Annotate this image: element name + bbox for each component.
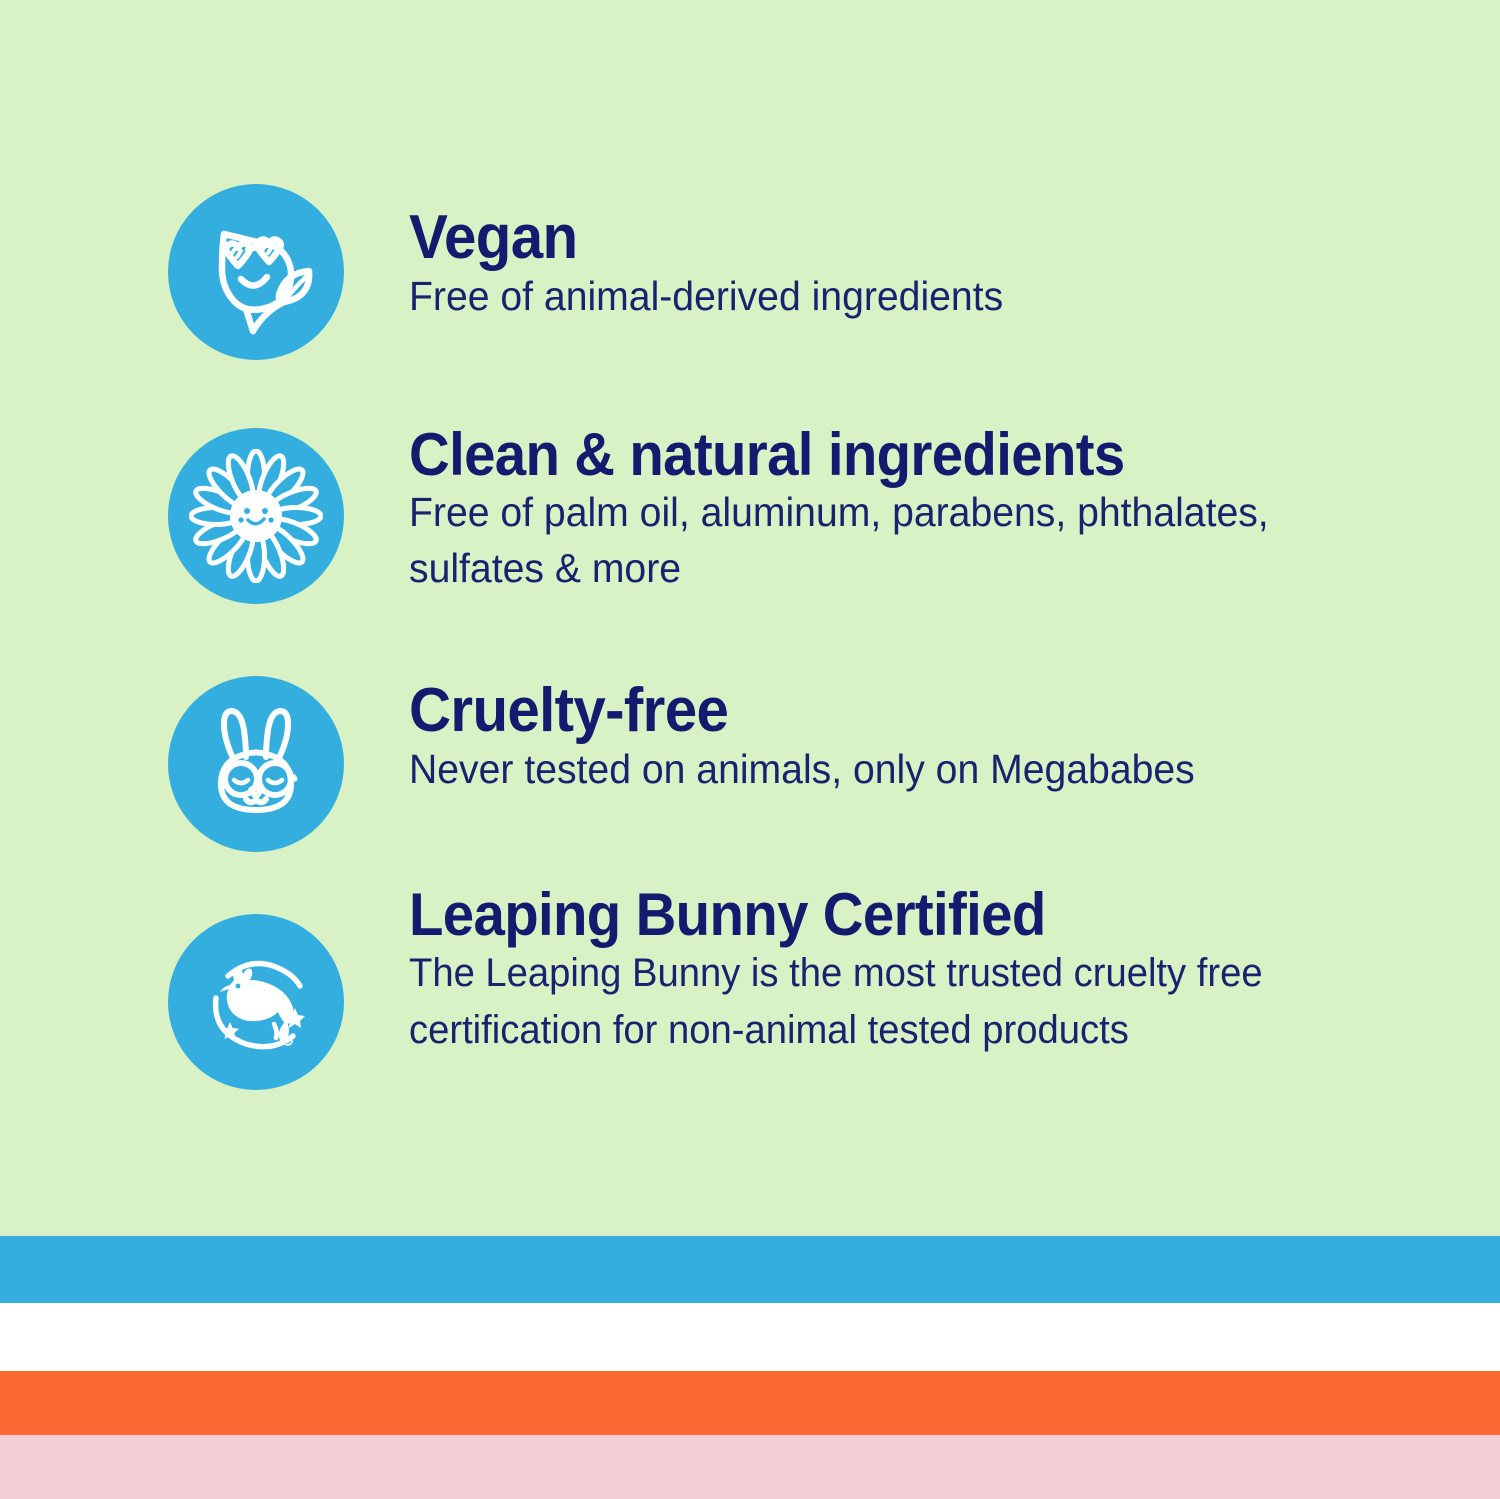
color-band-blue [0, 1236, 1500, 1303]
product-benefits-panel: Vegan Free of animal-derived ingredients [0, 0, 1500, 1499]
benefit-description: Never tested on animals, only on Megabab… [409, 742, 1326, 798]
benefit-title: Cruelty-free [409, 679, 1311, 742]
benefit-text-clean-natural-ingredients: Clean & natural ingredients Free of palm… [409, 424, 1419, 597]
benefit-text-leaping-bunny-certified: Leaping Bunny Certified The Leaping Bunn… [409, 884, 1419, 1059]
benefit-description: Free of palm oil, aluminum, parabens, ph… [409, 485, 1374, 597]
benefit-title: Leaping Bunny Certified [409, 884, 1358, 945]
berry-with-heart-sunglasses-icon [168, 184, 344, 360]
color-band-orange [0, 1371, 1500, 1435]
color-band-pink [0, 1435, 1500, 1499]
benefit-description: Free of animal-derived ingredients [409, 269, 1269, 325]
benefit-description: The Leaping Bunny is the most trusted cr… [409, 945, 1374, 1059]
benefit-title: Vegan [409, 206, 1255, 269]
benefit-title: Clean & natural ingredients [409, 424, 1358, 485]
benefit-text-cruelty-free: Cruelty-free Never tested on animals, on… [409, 679, 1369, 798]
benefit-list: Vegan Free of animal-derived ingredients [0, 0, 1500, 1236]
benefit-text-vegan: Vegan Free of animal-derived ingredients [409, 206, 1309, 325]
color-band-white [0, 1303, 1500, 1371]
svg-text:R: R [286, 1040, 290, 1046]
smiling-daisy-flower-icon [168, 428, 344, 604]
bunny-face-with-glasses-icon [168, 676, 344, 852]
leaping-bunny-logo-icon: R [168, 914, 344, 1090]
